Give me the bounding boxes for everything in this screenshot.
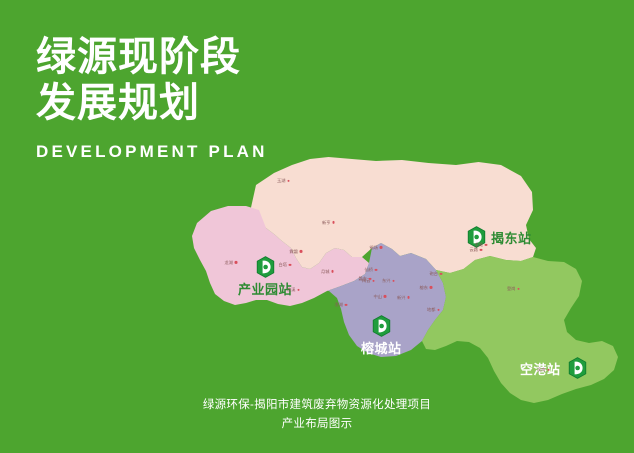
town-dot-icon <box>372 280 375 283</box>
page-title-line-1: 绿源现阶段 <box>36 34 336 80</box>
station-marker-rongcheng[interactable]: 榕城站 <box>361 315 402 357</box>
town-marker: 玉湖 <box>277 179 290 183</box>
town-label: 砲台 <box>430 272 438 276</box>
town-dot-icon <box>437 309 440 312</box>
town-dot-icon <box>392 280 395 283</box>
town-marker: 新亨 <box>322 220 335 224</box>
town-marker: 新兴 <box>397 295 410 299</box>
town-label: 白塔 <box>279 263 287 267</box>
station-label-chanyeyuan: 产业园站 <box>238 279 292 298</box>
town-marker: 砲台 <box>430 272 443 276</box>
town-label: 云路 <box>470 248 478 252</box>
caption-block: 绿源环保-揭阳市建筑废弃物资源化处理项目 产业布局图示 <box>0 396 634 434</box>
town-dot-icon <box>384 295 387 298</box>
town-dot-icon <box>332 221 335 224</box>
town-marker: 云路 <box>470 248 483 252</box>
station-label-rongcheng: 榕城站 <box>361 338 402 357</box>
town-dot-icon <box>380 246 383 249</box>
town-label: 锡场 <box>370 245 378 249</box>
town-label: 地都 <box>427 308 435 312</box>
town-label: 新兴 <box>397 295 405 299</box>
town-label: 月城 <box>321 269 329 273</box>
town-label: 新亨 <box>322 220 330 224</box>
lvyuan-leaf-logo-icon <box>256 256 275 278</box>
map-region-konggang[interactable] <box>422 256 618 403</box>
town-dot-icon <box>440 273 443 276</box>
lvyuan-leaf-logo-icon <box>372 315 391 337</box>
poster-root: 绿源现阶段 发展规划 DEVELOPMENT PLAN 揭东 <box>0 0 634 453</box>
station-label-jiedong: 揭东站 <box>491 228 532 247</box>
town-marker: 龙湖 <box>225 260 238 264</box>
town-marker: 霖磐 <box>290 249 303 253</box>
town-marker: 渔湖 <box>335 303 348 307</box>
town-dot-icon <box>547 369 550 372</box>
town-marker: 地都 <box>427 308 440 312</box>
town-dot-icon <box>485 244 488 247</box>
town-label: 渔湖 <box>335 303 343 307</box>
town-dot-icon <box>430 286 433 289</box>
town-label: 霖磐 <box>290 249 298 253</box>
town-marker: 东兴 <box>382 279 395 283</box>
town-dot-icon <box>480 249 483 252</box>
town-marker: 中山 <box>374 294 387 298</box>
town-label: 仙桥 <box>365 268 373 272</box>
town-label: 龙湖 <box>225 260 233 264</box>
town-marker: 磐东 <box>359 277 372 281</box>
town-dot-icon <box>369 278 372 281</box>
town-dot-icon <box>331 270 334 273</box>
town-marker: 登岗 <box>507 287 520 291</box>
town-label: 登岗 <box>507 287 515 291</box>
heading-block: 绿源现阶段 发展规划 DEVELOPMENT PLAN <box>36 34 336 162</box>
town-label: 榕东 <box>420 285 428 289</box>
lvyuan-leaf-logo-icon <box>568 357 587 379</box>
town-label: 东兴 <box>382 279 390 283</box>
town-marker: 月城 <box>321 269 334 273</box>
town-label: 溪南 <box>537 368 545 372</box>
page-title-line-2: 发展规划 <box>36 80 336 126</box>
caption-line-2: 产业布局图示 <box>0 415 634 434</box>
town-marker: 京溪 <box>287 288 300 292</box>
town-marker: 榕东 <box>420 285 433 289</box>
town-dot-icon <box>345 304 348 307</box>
caption-line-1: 绿源环保-揭阳市建筑废弃物资源化处理项目 <box>0 396 634 415</box>
map-container: 揭东站 产业园站 榕城站 空港站 <box>176 150 634 410</box>
town-dot-icon <box>300 250 303 253</box>
town-dot-icon <box>289 264 292 267</box>
town-dot-icon <box>297 289 300 292</box>
station-marker-konggang[interactable]: 空港站 <box>520 357 587 379</box>
town-dot-icon <box>375 269 378 272</box>
town-dot-icon <box>287 180 290 183</box>
town-label: 中山 <box>374 294 382 298</box>
town-marker: 锡场 <box>370 245 383 249</box>
town-dot-icon <box>407 296 410 299</box>
town-label: 玉湖 <box>277 179 285 183</box>
town-dot-icon <box>517 288 520 291</box>
town-label: 京溪 <box>287 288 295 292</box>
town-marker: 白塔 <box>279 263 292 267</box>
town-label: 磐东 <box>359 277 367 281</box>
town-dot-icon <box>235 261 238 264</box>
town-marker: 溪南 <box>537 368 550 372</box>
town-marker: 仙桥 <box>365 268 378 272</box>
